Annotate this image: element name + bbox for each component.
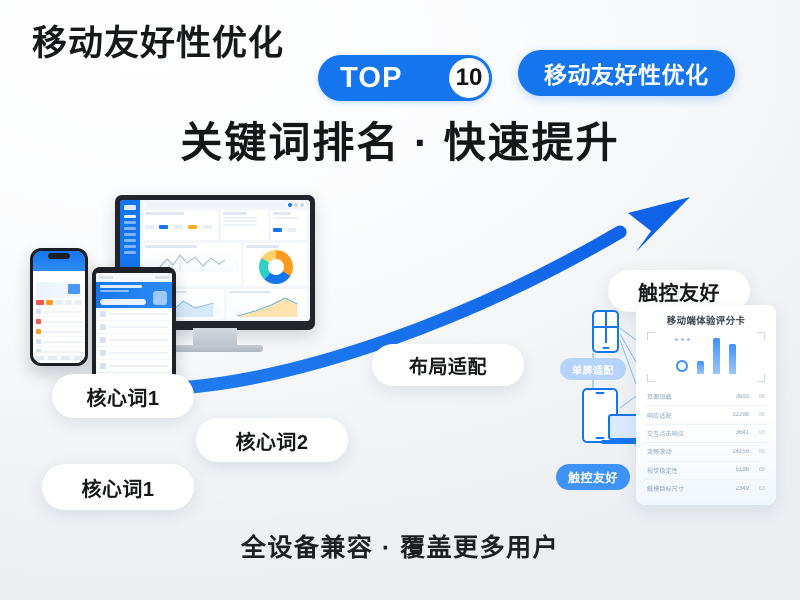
top-ten-badge: TOP 10 — [318, 55, 492, 101]
phone-mockup — [30, 248, 88, 366]
phone-frame — [30, 248, 88, 366]
tag-pill-mobile-friendly: 移动友好性优化 — [518, 50, 735, 96]
list-item — [96, 308, 172, 321]
card-title-line — [273, 212, 291, 215]
phone-tab-bar — [33, 352, 85, 363]
scorecard-row-score: 98 — [753, 394, 765, 400]
list-item — [96, 347, 172, 360]
tablet-status-bar — [96, 273, 172, 282]
scorecard-row-value: 2349 — [727, 486, 749, 492]
card-chip — [145, 225, 154, 229]
mobile-experience-scorecard: 移动端体验评分卡 页面加载 3693 98 响应适配 32298 95 — [636, 305, 776, 505]
scorecard-bar — [697, 361, 704, 374]
scorecard-row-score: 95 — [753, 412, 765, 418]
keyword-pill-1: 核心词1 — [52, 374, 194, 418]
responsive-diagram: 单屏适配 触控友好 移动端体验评分卡 页面加载 3693 — [536, 300, 786, 510]
card-title-line — [246, 245, 278, 248]
phone-search-input — [36, 273, 82, 280]
diagram-label-single-screen: 单屏适配 — [560, 358, 626, 380]
card-title-line — [145, 212, 184, 215]
sidebar-item — [124, 239, 136, 242]
scorecard-row: 视觉稳定性 5186 88 — [645, 462, 767, 480]
card-line — [273, 217, 299, 219]
card-chip — [159, 225, 168, 229]
scorecard-row-name: 视觉稳定性 — [647, 466, 723, 475]
keyword-pill-3: 核心词1 — [42, 464, 194, 510]
scorecard-row-name: 响应适配 — [647, 411, 723, 420]
monitor-foot — [167, 345, 263, 352]
sidebar-item — [124, 221, 136, 224]
scorecard-row-value: 24159 — [727, 449, 749, 455]
diagram-small-phone-icon — [592, 310, 619, 353]
scorecard-row-value: 32298 — [727, 412, 749, 418]
card-line — [223, 220, 257, 222]
footer-tagline: 全设备兼容 · 覆盖更多用户 — [0, 528, 800, 564]
dashboard-card — [244, 243, 307, 286]
scorecard-row-value: 3693 — [727, 394, 749, 400]
scorecard-row-score: 83 — [753, 486, 765, 492]
card-title-line — [223, 212, 247, 215]
dashboard-card — [221, 210, 268, 240]
scorecard-title: 移动端体验评分卡 — [645, 313, 767, 327]
sidebar-item — [124, 245, 136, 248]
scorecard-row-name: 页面加载 — [647, 392, 723, 401]
scorecard-row: 流畅滚动 24159 90 — [645, 443, 767, 461]
list-item — [33, 317, 85, 327]
magnifier-icon — [676, 360, 688, 372]
card-chip — [188, 225, 197, 229]
scorecard-chart — [647, 332, 765, 382]
banner-button — [100, 299, 146, 305]
scorecard-row: 触摸目标尺寸 2349 83 — [645, 480, 767, 497]
top-badge-word: TOP — [318, 64, 403, 93]
dashboard-card — [143, 210, 218, 240]
donut-chart-icon — [259, 250, 293, 284]
card-chip — [174, 225, 183, 229]
phone-notch — [48, 253, 70, 259]
banner-image-icon — [153, 291, 167, 305]
tablet-screen — [96, 273, 172, 376]
keyword-pill-2: 核心词2 — [196, 418, 348, 462]
phone-screen — [33, 251, 85, 363]
device-mockups — [30, 195, 320, 395]
sidebar-item — [124, 233, 136, 236]
scorecard-row-name: 触摸目标尺寸 — [647, 484, 723, 493]
card-title-line — [145, 245, 197, 248]
tablet-hero-banner — [96, 282, 172, 308]
toolbar-dot-icon — [300, 203, 304, 207]
scorecard-bar — [729, 344, 736, 374]
tablet-mockup — [92, 267, 176, 382]
list-item — [33, 307, 85, 317]
page-title: 关键词排名 · 快速提升 — [0, 120, 800, 166]
sidebar-item — [124, 227, 136, 230]
card-line — [223, 224, 257, 226]
dashboard-card — [271, 210, 307, 240]
list-item — [96, 334, 172, 347]
list-item — [33, 337, 85, 347]
dashboard-toolbar — [143, 203, 307, 207]
top-badge-number: 10 — [449, 58, 489, 98]
banner-line — [100, 290, 129, 292]
keyword-pill-layout-adapt: 布局适配 — [372, 344, 524, 386]
poster-canvas: 移动友好性优化 TOP 10 移动友好性优化 关键词排名 · 快速提升 — [0, 0, 800, 600]
scorecard-row-value: 5186 — [727, 467, 749, 473]
card-line — [223, 217, 257, 219]
dashboard-card — [227, 289, 308, 320]
dashboard-search-bar — [146, 203, 286, 207]
area-chart-icon — [229, 295, 306, 317]
scorecard-row-name: 流畅滚动 — [647, 447, 723, 456]
scorecard-row-score: 90 — [753, 449, 765, 455]
toolbar-dot-icon — [294, 203, 298, 207]
card-chip — [287, 228, 296, 232]
sidebar-item — [124, 251, 136, 254]
phone-chip-row — [33, 300, 85, 307]
list-item — [96, 321, 172, 334]
dashboard-logo — [124, 205, 136, 210]
toolbar-dot-icon — [288, 203, 292, 207]
phone-promo-card — [36, 282, 82, 298]
scorecard-row: 页面加载 3693 98 — [645, 388, 767, 406]
scorecard-row-score: 88 — [753, 467, 765, 473]
scorecard-row: 交互点击响应 3641 93 — [645, 425, 767, 443]
kicker-title: 移动友好性优化 — [32, 26, 284, 61]
card-title-line — [229, 291, 271, 294]
monitor-stand — [193, 328, 237, 346]
list-item — [96, 360, 172, 373]
scorecard-row-value: 3641 — [727, 430, 749, 436]
scorecard-bars — [661, 336, 751, 374]
sidebar-item — [124, 215, 136, 218]
diagram-label-touch-friendly: 触控友好 — [556, 464, 630, 490]
scorecard-bar — [713, 338, 720, 374]
scorecard-row-name: 交互点击响应 — [647, 429, 723, 438]
card-chip — [273, 228, 282, 232]
list-item — [33, 327, 85, 337]
card-chip — [203, 225, 212, 229]
dashboard-filter-row — [143, 210, 307, 240]
scorecard-row-score: 93 — [753, 430, 765, 436]
scorecard-row: 响应适配 32298 95 — [645, 406, 767, 424]
banner-line — [100, 285, 142, 288]
tablet-frame — [92, 267, 176, 382]
